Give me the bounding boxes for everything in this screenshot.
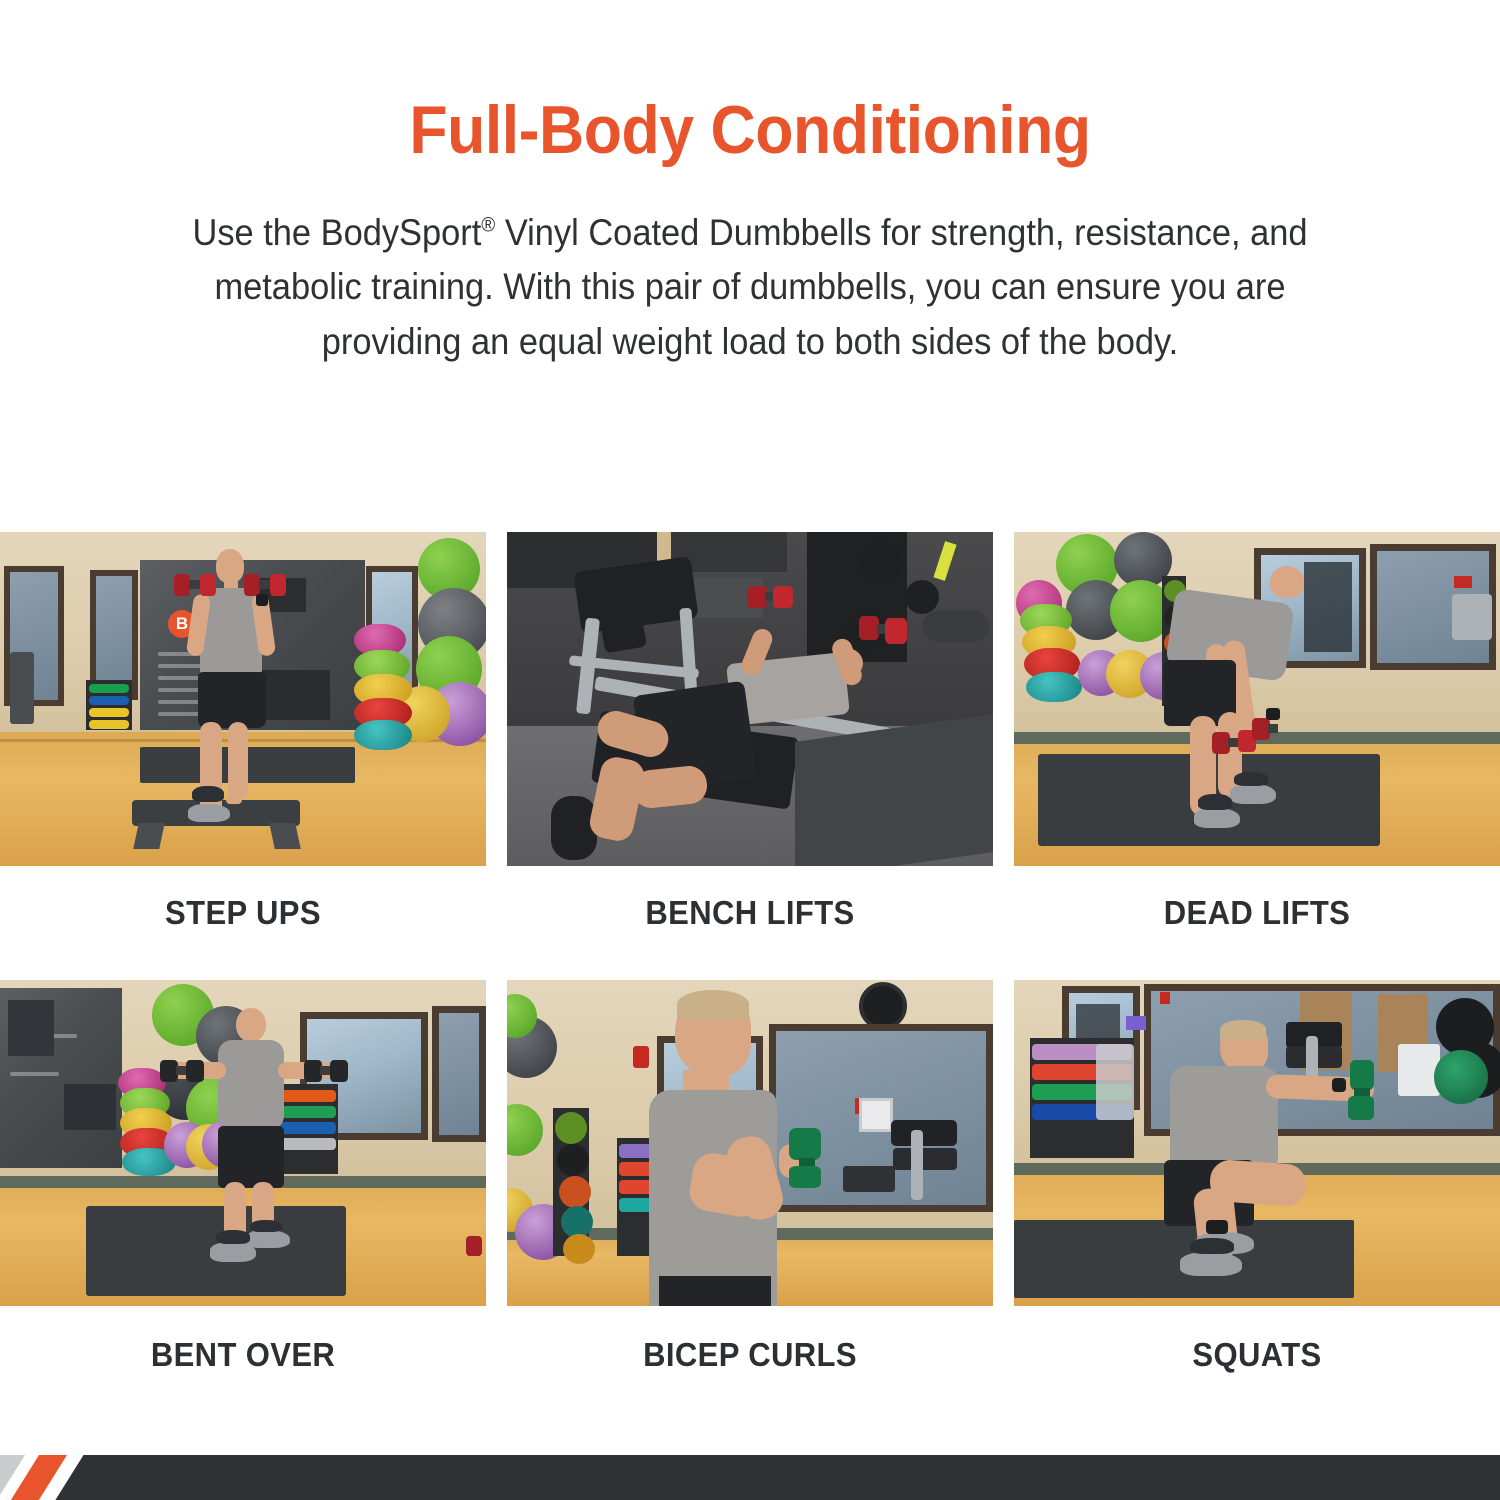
dumbbell-left-head-b <box>773 586 793 608</box>
exercise-photo-step-ups: B <box>0 532 486 866</box>
exercise-photo-bent-over <box>0 980 486 1306</box>
mirror-bench <box>891 1120 957 1146</box>
person-head <box>236 1008 266 1042</box>
aed-box <box>859 1098 893 1132</box>
weight-plate-green <box>1434 1050 1488 1104</box>
exercise-card-bent-over: BENT OVER <box>0 980 486 1416</box>
mirror-bench-post <box>911 1130 923 1200</box>
mirror-weights <box>843 1166 895 1192</box>
mirror-dumbbell-rack <box>893 1148 957 1170</box>
wrist-watch <box>256 594 268 606</box>
page-title: Full-Body Conditioning <box>60 96 1440 164</box>
exercise-grid: B <box>0 532 1500 1416</box>
person-shoe-back <box>1230 784 1276 804</box>
treadmill-screen <box>1126 1016 1146 1030</box>
person-shoe-upper-front <box>1198 794 1232 810</box>
person-shoe-front <box>1180 1252 1242 1276</box>
header: Full-Body Conditioning Use the BodySport… <box>0 0 1500 369</box>
equipment-steel <box>1452 594 1492 640</box>
rack-row-silver <box>1096 1044 1134 1120</box>
wrist-watch <box>1332 1078 1346 1092</box>
dumbbell-right-bar <box>1268 724 1278 733</box>
person-leg-back <box>228 722 248 800</box>
exercise-card-dead-lifts: DEAD LIFTS <box>1014 532 1500 980</box>
person-torso <box>1170 1066 1278 1174</box>
person-shoe-front <box>1194 808 1240 828</box>
water-cooler <box>10 652 34 724</box>
step-leg-left <box>133 823 165 849</box>
bodysport-banner <box>0 988 122 1168</box>
exercise-photo-squats <box>1014 980 1500 1306</box>
exercise-row-2: BENT OVER <box>0 980 1500 1416</box>
dumbbell-right-head-b <box>270 574 286 596</box>
treadmill-silhouette <box>1304 562 1352 652</box>
wall-clock <box>859 982 907 1030</box>
dumbbell-left-head-b <box>186 1060 204 1082</box>
person-shoe-right <box>246 1230 290 1248</box>
person-head <box>216 549 244 583</box>
infographic-page: Full-Body Conditioning Use the BodySport… <box>0 0 1500 1500</box>
footer-bar <box>0 1455 1500 1500</box>
rubber-mat <box>795 714 993 866</box>
medicine-ball-2 <box>557 1144 589 1176</box>
wrist-watch <box>1266 708 1280 720</box>
battle-rope <box>923 610 989 642</box>
person-shoe-upper-back <box>1234 772 1268 786</box>
person-hair <box>1220 1020 1266 1040</box>
intro-text-a: Use the BodySport <box>192 212 481 253</box>
person-hair <box>677 990 749 1020</box>
person-shoe-front <box>188 804 230 822</box>
exercise-photo-bench-lifts <box>507 532 993 866</box>
medicine-ball-5 <box>563 1234 595 1264</box>
dumbbell-left-head-b <box>200 574 216 596</box>
wall-mirror <box>432 1006 486 1142</box>
person-shoe-upper-right <box>250 1220 282 1232</box>
bosu-teal <box>354 720 412 750</box>
dumbbell-head-a <box>789 1128 821 1160</box>
fire-alarm <box>1160 992 1170 1004</box>
medicine-ball-1 <box>555 1112 587 1144</box>
exercise-caption-dead-lifts: DEAD LIFTS <box>1029 866 1486 980</box>
person-shoe-upper-left <box>216 1230 250 1244</box>
rack-row-green <box>89 684 129 693</box>
exercise-caption-bent-over: BENT OVER <box>15 1306 472 1416</box>
exercise-photo-dead-lifts <box>1014 532 1500 866</box>
person-shoe-upper <box>1190 1238 1234 1254</box>
registered-mark: ® <box>481 215 495 237</box>
exercise-caption-bicep-curls: BICEP CURLS <box>522 1306 979 1416</box>
dumbbell-right-head-a <box>859 616 879 640</box>
exercise-caption-squats: SQUATS <box>1029 1306 1486 1416</box>
weight-plate-1 <box>859 540 903 584</box>
rack-row-yellow <box>89 708 129 717</box>
person-shorts <box>659 1276 771 1306</box>
dumbbell-left-head-a <box>747 586 767 608</box>
safety-sign <box>1454 576 1472 588</box>
floor-dumbbell <box>466 1236 482 1256</box>
dumbbell-head-b <box>1348 1096 1374 1120</box>
person-torso <box>218 1040 284 1130</box>
dumbbell-head-a <box>1350 1060 1374 1090</box>
rack-row-yellow-2 <box>89 720 129 729</box>
dumbbell-right-head-a <box>244 574 260 596</box>
exercise-card-step-ups: B <box>0 532 486 980</box>
dumbbell-head-b <box>789 1166 821 1188</box>
exercise-card-bench-lifts: BENCH LIFTS <box>507 532 993 980</box>
dumbbell-right-head-b <box>330 1060 348 1082</box>
ankle-band <box>1206 1220 1228 1234</box>
person-shorts <box>198 672 266 728</box>
person-shoe-upper <box>192 786 224 802</box>
person-foot-back <box>226 794 242 804</box>
rack-row-blue <box>89 696 129 705</box>
medicine-ball-3 <box>559 1176 591 1208</box>
exercise-caption-step-ups: STEP UPS <box>15 866 472 980</box>
exercise-caption-bench-lifts: BENCH LIFTS <box>522 866 979 980</box>
person-head <box>1270 566 1304 598</box>
dumbbell-left-head-a <box>174 574 190 596</box>
exercise-photo-bicep-curls <box>507 980 993 1306</box>
exercise-row-1: B <box>0 532 1500 980</box>
dumbbell-right-head-b <box>885 618 907 644</box>
person-shorts <box>218 1126 284 1188</box>
exercise-card-bicep-curls: BICEP CURLS <box>507 980 993 1416</box>
step-leg-right <box>269 823 301 849</box>
fire-alarm <box>633 1046 649 1068</box>
bosu-teal <box>1026 672 1082 702</box>
weight-plate-3 <box>905 580 939 614</box>
intro-paragraph: Use the BodySport® Vinyl Coated Dumbbell… <box>146 206 1355 369</box>
exercise-card-squats: SQUATS <box>1014 980 1500 1416</box>
